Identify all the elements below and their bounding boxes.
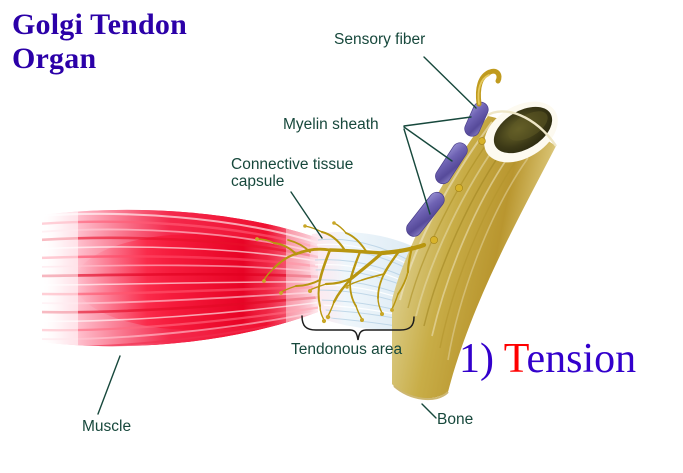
tension-initial: T: [504, 336, 527, 382]
muscle-fibers: [36, 200, 332, 360]
diagram-canvas: Golgi Tendon Organ Sensory fiber Myelin …: [0, 0, 683, 473]
label-connective-tissue-capsule: Connective tissue capsule: [231, 156, 353, 191]
leader-line-bone: [422, 404, 436, 418]
leader-line-myelin-1: [404, 117, 471, 126]
leader-line-sensory-fiber: [424, 57, 476, 108]
page-title: Golgi Tendon Organ: [12, 8, 187, 75]
tension-number: 1): [459, 336, 504, 382]
label-myelin-sheath: Myelin sheath: [283, 116, 379, 133]
label-muscle: Muscle: [82, 418, 131, 435]
label-sensory-fiber: Sensory fiber: [334, 31, 425, 48]
leader-line-myelin-2: [404, 127, 452, 161]
label-bone: Bone: [437, 411, 473, 428]
leader-line-muscle: [98, 356, 120, 414]
tension-callout: 1) Tension: [459, 336, 636, 383]
label-tendonous-area: Tendonous area: [291, 341, 402, 358]
leader-line-myelin-3: [404, 129, 430, 214]
tension-rest: ension: [526, 336, 636, 382]
